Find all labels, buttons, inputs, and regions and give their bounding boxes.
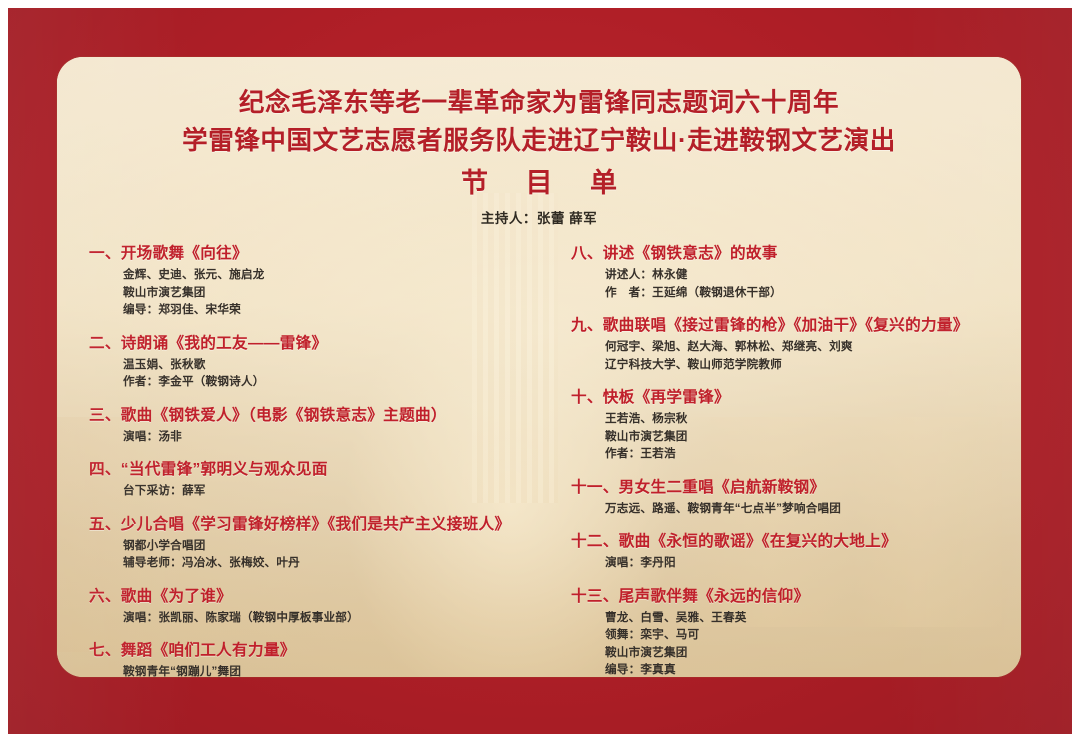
heading-line-2: 学雷锋中国文艺志愿者服务队走进辽宁鞍山·走进鞍钢文艺演出 — [57, 122, 1021, 160]
program-item-credit-line: 作 者：王延绵（鞍钢退休干部） — [605, 284, 1003, 302]
program-item-credit-line: 万志远、路遥、鞍钢青年“七点半”梦响合唱团 — [605, 500, 1003, 518]
program-item-credit-line: 编导：李真真 — [605, 661, 1003, 677]
program-item-title: 七、舞蹈《咱们工人有力量》 — [89, 640, 529, 662]
program-item: 十一、男女生二重唱《启航新鞍钢》万志远、路遥、鞍钢青年“七点半”梦响合唱团 — [557, 477, 1003, 518]
program-item-title: 五、少儿合唱《学习雷锋好榜样》《我们是共产主义接班人》 — [89, 514, 529, 536]
program-item-credits: 曹龙、白雪、吴雅、王春英领舞：栾宇、马可鞍山市演艺集团编导：李真真 — [557, 609, 1003, 678]
program-item-credit-line: 王若浩、杨宗秋 — [605, 410, 1003, 428]
program-item-credits: 钢都小学合唱团辅导老师：冯冶冰、张梅姣、叶丹 — [89, 537, 529, 572]
program-item: 八、讲述《钢铁意志》的故事讲述人：林永健作 者：王延绵（鞍钢退休干部） — [557, 243, 1003, 301]
program-item-credit-line: 作者：李金平（鞍钢诗人） — [123, 373, 529, 391]
program-item-title: 一、开场歌舞《向往》 — [89, 243, 529, 265]
program-item-title: 三、歌曲《钢铁爱人》（电影《钢铁意志》主题曲） — [89, 405, 529, 427]
program-item-credit-line: 演唱：汤非 — [123, 428, 529, 446]
program-item-credit-line: 何冠宇、梁旭、赵大海、郭林松、郑继亮、刘爽 — [605, 338, 1003, 356]
program-item: 二、诗朗诵《我的工友——雷锋》温玉娟、张秋歌作者：李金平（鞍钢诗人） — [89, 333, 529, 391]
poster-background: 纪念毛泽东等老一辈革命家为雷锋同志题词六十周年 学雷锋中国文艺志愿者服务队走进辽… — [8, 8, 1072, 734]
program-item-credits: 温玉娟、张秋歌作者：李金平（鞍钢诗人） — [89, 356, 529, 391]
program-item: 九、歌曲联唱《接过雷锋的枪》《加油干》《复兴的力量》何冠宇、梁旭、赵大海、郭林松… — [557, 315, 1003, 373]
program-item-credit-line: 鞍山市演艺集团 — [605, 644, 1003, 662]
program-item: 一、开场歌舞《向往》金辉、史迪、张元、施启龙鞍山市演艺集团编导：郑羽佳、宋华荣 — [89, 243, 529, 319]
program-item-title: 九、歌曲联唱《接过雷锋的枪》《加油干》《复兴的力量》 — [557, 315, 1003, 337]
program-item-credit-line: 金辉、史迪、张元、施启龙 — [123, 266, 529, 284]
program-item-credit-line: 曹龙、白雪、吴雅、王春英 — [605, 609, 1003, 627]
program-item-credits: 万志远、路遥、鞍钢青年“七点半”梦响合唱团 — [557, 500, 1003, 518]
program-item-title: 十三、尾声歌伴舞《永远的信仰》 — [557, 586, 1003, 608]
program-item: 十三、尾声歌伴舞《永远的信仰》曹龙、白雪、吴雅、王春英领舞：栾宇、马可鞍山市演艺… — [557, 586, 1003, 678]
program-item-title: 四、“当代雷锋”郭明义与观众见面 — [89, 459, 529, 481]
program-item: 六、歌曲《为了谁》演唱：张凯丽、陈家瑞（鞍钢中厚板事业部） — [89, 586, 529, 627]
program-panel: 纪念毛泽东等老一辈革命家为雷锋同志题词六十周年 学雷锋中国文艺志愿者服务队走进辽… — [57, 57, 1021, 677]
program-item-credit-line: 作者：王若浩 — [605, 445, 1003, 463]
program-item-credit-line: 鞍山市演艺集团 — [605, 428, 1003, 446]
program-item-title: 十、快板《再学雷锋》 — [557, 387, 1003, 409]
program-item: 四、“当代雷锋”郭明义与观众见面台下采访：薛军 — [89, 459, 529, 500]
page-title: 节 目 单 — [57, 160, 1021, 206]
program-item-title: 八、讲述《钢铁意志》的故事 — [557, 243, 1003, 265]
host-line: 主持人：张蕾 薛军 — [57, 208, 1021, 230]
program-item-title: 二、诗朗诵《我的工友——雷锋》 — [89, 333, 529, 355]
program-item-credit-line: 辅导老师：冯冶冰、张梅姣、叶丹 — [123, 554, 529, 572]
program-item-credit-line: 演唱：李丹阳 — [605, 554, 1003, 572]
program-item-title: 十一、男女生二重唱《启航新鞍钢》 — [557, 477, 1003, 499]
program-item-credits: 台下采访：薛军 — [89, 482, 529, 500]
program-item-credit-line: 温玉娟、张秋歌 — [123, 356, 529, 374]
program-item-credit-line: 讲述人：林永健 — [605, 266, 1003, 284]
program-item-credit-line: 辽宁科技大学、鞍山师范学院教师 — [605, 356, 1003, 374]
program-item-credit-line: 钢都小学合唱团 — [123, 537, 529, 555]
program-item-credits: 鞍钢青年“钢蹦儿”舞团 — [89, 663, 529, 677]
program-item-title: 十二、歌曲《永恒的歌谣》《在复兴的大地上》 — [557, 531, 1003, 553]
program-item: 三、歌曲《钢铁爱人》（电影《钢铁意志》主题曲）演唱：汤非 — [89, 405, 529, 446]
poster-heading: 纪念毛泽东等老一辈革命家为雷锋同志题词六十周年 学雷锋中国文艺志愿者服务队走进辽… — [57, 57, 1021, 230]
program-item: 七、舞蹈《咱们工人有力量》鞍钢青年“钢蹦儿”舞团 — [89, 640, 529, 677]
program-item-credits: 金辉、史迪、张元、施启龙鞍山市演艺集团编导：郑羽佳、宋华荣 — [89, 266, 529, 319]
program-columns: 一、开场歌舞《向往》金辉、史迪、张元、施启龙鞍山市演艺集团编导：郑羽佳、宋华荣二… — [57, 243, 1021, 677]
program-item-credit-line: 台下采访：薛军 — [123, 482, 529, 500]
program-item-credits: 何冠宇、梁旭、赵大海、郭林松、郑继亮、刘爽辽宁科技大学、鞍山师范学院教师 — [557, 338, 1003, 373]
program-item-credit-line: 鞍钢青年“钢蹦儿”舞团 — [123, 663, 529, 677]
program-item: 五、少儿合唱《学习雷锋好榜样》《我们是共产主义接班人》钢都小学合唱团辅导老师：冯… — [89, 514, 529, 572]
program-item-credits: 演唱：汤非 — [89, 428, 529, 446]
program-item-title: 六、歌曲《为了谁》 — [89, 586, 529, 608]
program-column-left: 一、开场歌舞《向往》金辉、史迪、张元、施启龙鞍山市演艺集团编导：郑羽佳、宋华荣二… — [57, 243, 539, 677]
program-item-credits: 演唱：张凯丽、陈家瑞（鞍钢中厚板事业部） — [89, 609, 529, 627]
program-item-credit-line: 鞍山市演艺集团 — [123, 284, 529, 302]
program-item-credit-line: 编导：郑羽佳、宋华荣 — [123, 301, 529, 319]
program-item-credits: 王若浩、杨宗秋鞍山市演艺集团作者：王若浩 — [557, 410, 1003, 463]
program-item: 十二、歌曲《永恒的歌谣》《在复兴的大地上》演唱：李丹阳 — [557, 531, 1003, 572]
panel-content: 纪念毛泽东等老一辈革命家为雷锋同志题词六十周年 学雷锋中国文艺志愿者服务队走进辽… — [57, 57, 1021, 677]
program-item-credit-line: 演唱：张凯丽、陈家瑞（鞍钢中厚板事业部） — [123, 609, 529, 627]
program-item-credits: 讲述人：林永健作 者：王延绵（鞍钢退休干部） — [557, 266, 1003, 301]
program-item: 十、快板《再学雷锋》王若浩、杨宗秋鞍山市演艺集团作者：王若浩 — [557, 387, 1003, 463]
heading-line-1: 纪念毛泽东等老一辈革命家为雷锋同志题词六十周年 — [57, 84, 1021, 122]
program-item-credits: 演唱：李丹阳 — [557, 554, 1003, 572]
program-column-right: 八、讲述《钢铁意志》的故事讲述人：林永健作 者：王延绵（鞍钢退休干部）九、歌曲联… — [539, 243, 1021, 677]
program-item-credit-line: 领舞：栾宇、马可 — [605, 626, 1003, 644]
